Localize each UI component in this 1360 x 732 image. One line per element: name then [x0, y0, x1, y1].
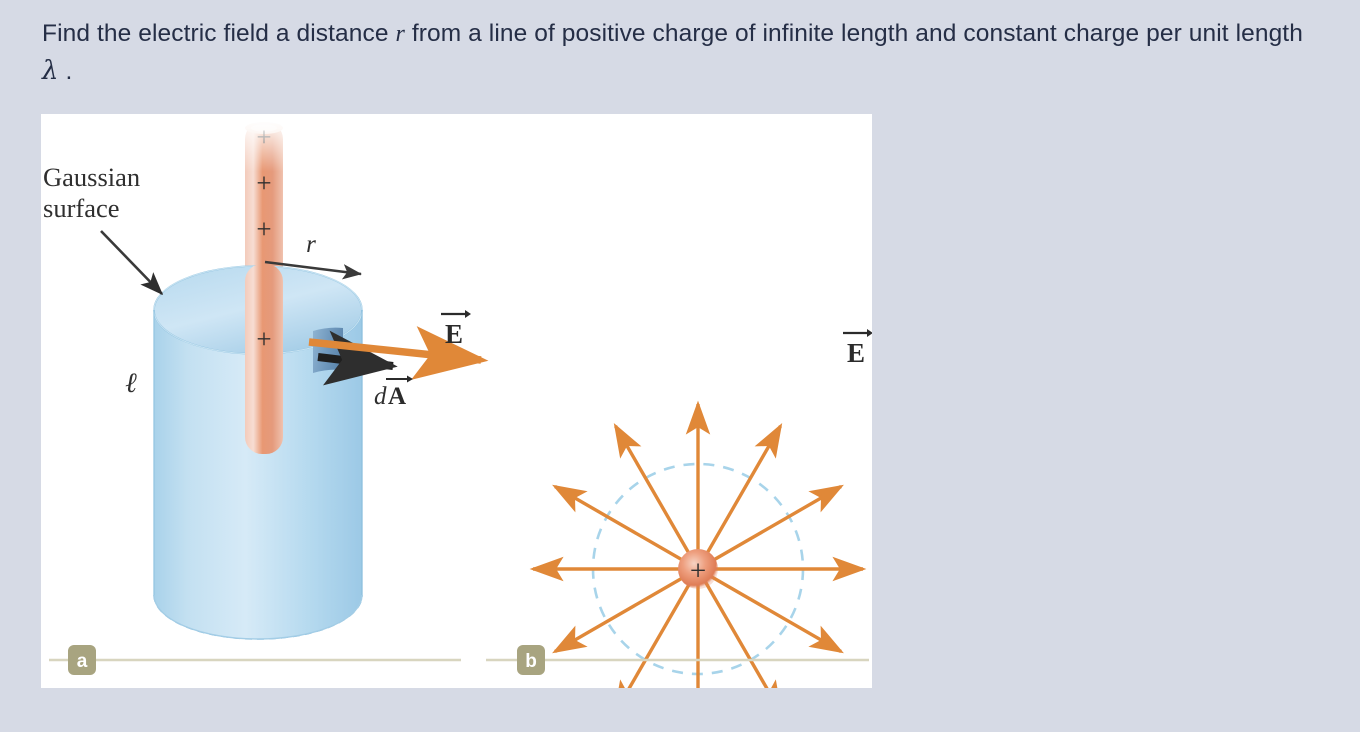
field-label-a: E — [445, 319, 463, 349]
question-prompt: Find the electric field a distance r fro… — [42, 16, 1312, 90]
rod-front-segment: + — [245, 264, 283, 454]
prompt-line2-before: charge per unit length — [1064, 20, 1303, 47]
prompt-line2-after: . — [59, 58, 73, 85]
svg-text:+: + — [256, 168, 271, 198]
length-label: ℓ — [125, 368, 137, 399]
screen-root: Find the electric field a distance r fro… — [0, 0, 1360, 732]
radial-field-diagram: + E — [533, 329, 872, 688]
svg-text:+: + — [256, 122, 271, 152]
area-element-patch — [313, 328, 343, 373]
charge-sign: + — [690, 555, 706, 587]
gaussian-callout-arrow — [101, 231, 162, 294]
variable-lambda-inline: λ — [42, 56, 59, 86]
svg-text:+: + — [256, 324, 271, 354]
figure-panel: + + + + + + — [41, 114, 872, 688]
prompt-line1-after: from a line of positive charge of infini… — [405, 20, 1057, 47]
gaussian-label-line1: Gaussian — [43, 162, 140, 192]
point-charge: + — [678, 549, 718, 589]
area-label-d: d — [374, 383, 387, 410]
panel-a-letter: a — [77, 651, 88, 672]
svg-text:+: + — [256, 214, 271, 244]
panel-badge-a: a — [68, 645, 96, 675]
radius-label: r — [306, 231, 316, 258]
area-label-A: A — [388, 383, 406, 410]
radial-field-arrows — [533, 404, 863, 688]
field-label-a-group: E — [441, 310, 471, 349]
panel-badge-b: b — [517, 645, 545, 675]
prompt-line1-before: Find the electric field a distance — [42, 20, 396, 47]
gaussian-label-line2: surface — [43, 193, 120, 223]
field-label-b-group: E — [843, 329, 872, 368]
area-label-group: d A — [374, 376, 413, 411]
panel-b-letter: b — [525, 651, 537, 672]
gaussian-surface-annotation: Gaussian surface — [43, 162, 162, 294]
variable-r-inline: r — [396, 21, 405, 47]
field-label-b: E — [847, 338, 865, 368]
physics-figure: + + + + + + — [41, 114, 872, 688]
